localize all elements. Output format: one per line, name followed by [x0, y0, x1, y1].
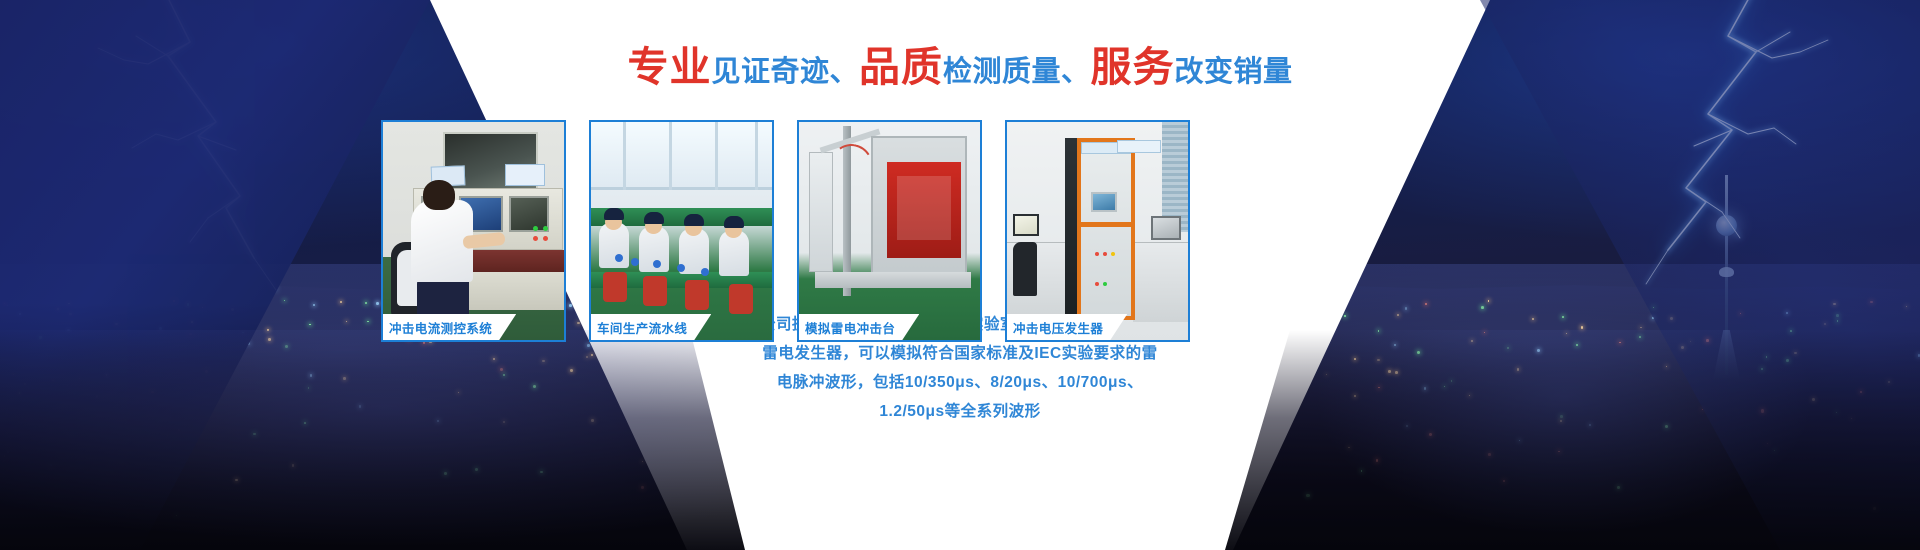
- photo-card-1-caption: 冲击电流测控系统: [383, 314, 516, 340]
- photo-card-3-caption: 模拟雷电冲击台: [799, 314, 919, 340]
- photo-card-3[interactable]: 模拟雷电冲击台: [797, 120, 982, 342]
- photo-card-4-caption: 冲击电压发生器: [1007, 314, 1127, 340]
- photo-card-3-caption-text: 模拟雷电冲击台: [805, 318, 895, 337]
- description-line-3: 1.2/50μs等全系列波形: [0, 397, 1920, 426]
- headline: 专业见证奇迹、品质检测质量、服务改变销量: [0, 47, 1920, 88]
- headline-segment-3: 检测质量、: [943, 56, 1091, 88]
- control-room-photo: [383, 122, 564, 340]
- photo-card-2-caption: 车间生产流水线: [591, 314, 711, 340]
- photo-card-1-caption-text: 冲击电流测控系统: [389, 318, 492, 337]
- headline-segment-1: 见证奇迹、: [711, 56, 859, 88]
- description-line-2: 电脉冲波形，包括10/350μs、8/20μs、10/700μs、: [0, 368, 1920, 397]
- headline-segment-5: 改变销量: [1175, 56, 1293, 88]
- promo-banner: 专业见证奇迹、品质检测质量、服务改变销量 冲击电流测控系统: [0, 0, 1920, 550]
- headline-segment-2: 品质: [859, 44, 943, 90]
- photo-card-2-caption-text: 车间生产流水线: [597, 318, 687, 337]
- photo-card-4-caption-text: 冲击电压发生器: [1013, 318, 1103, 337]
- headline-segment-0: 专业: [627, 44, 711, 90]
- photo-card-1[interactable]: 冲击电流测控系统: [381, 120, 566, 342]
- photo-card-2[interactable]: 车间生产流水线: [589, 120, 774, 342]
- description-line-1: 雷电发生器，可以模拟符合国家标准及IEC实验要求的雷: [0, 339, 1920, 368]
- photo-card-row: 冲击电流测控系统: [381, 120, 1190, 342]
- lightning-impulse-bench-photo: [799, 122, 980, 340]
- headline-segment-4: 服务: [1091, 44, 1175, 90]
- assembly-line-photo: [591, 122, 772, 340]
- photo-card-4[interactable]: 冲击电压发生器: [1005, 120, 1190, 342]
- impulse-voltage-generator-photo: [1007, 122, 1188, 340]
